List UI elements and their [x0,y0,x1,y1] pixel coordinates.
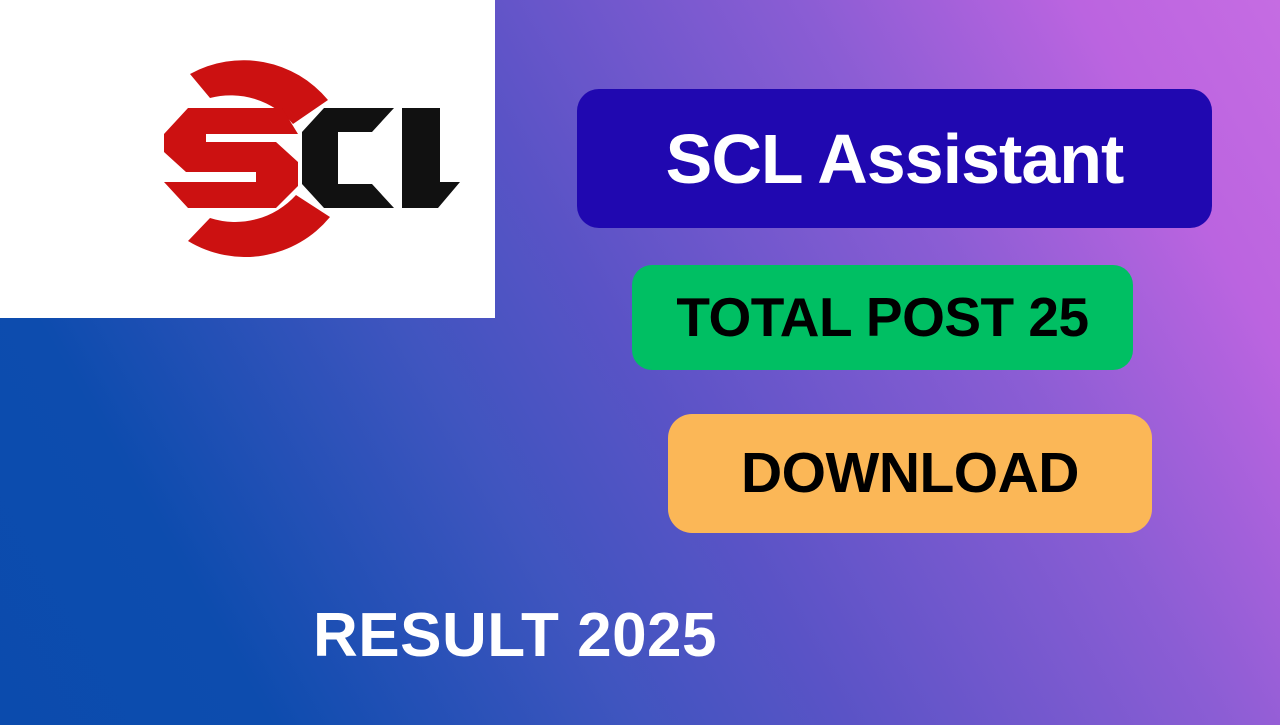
result-headline: RESULT 2025 [0,605,1280,667]
scl-logo-icon [60,12,460,302]
scl-assistant-button[interactable]: SCL Assistant [577,89,1212,228]
logo-panel [0,0,495,318]
promo-poster: SCL Assistant TOTAL POST 25 DOWNLOAD RES… [0,0,1280,725]
download-button[interactable]: DOWNLOAD [668,414,1152,533]
total-post-badge[interactable]: TOTAL POST 25 [632,265,1133,370]
